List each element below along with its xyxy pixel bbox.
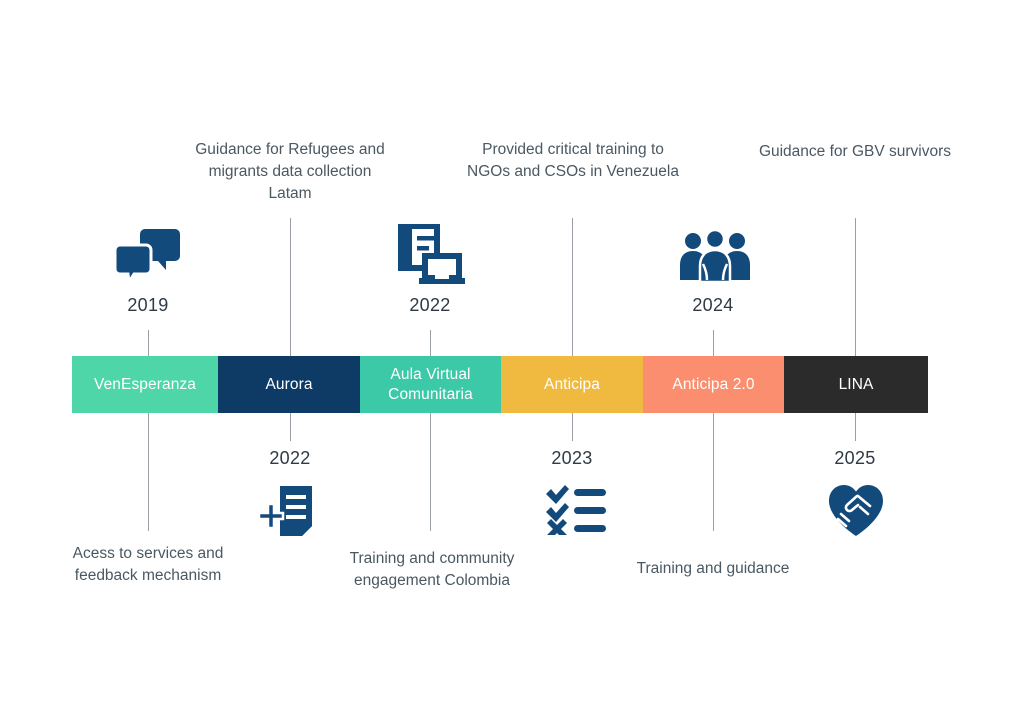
segment-label: Anticipa bbox=[544, 375, 600, 394]
speech-bubbles-icon bbox=[115, 227, 181, 283]
connector-line-bottom-guidance bbox=[713, 413, 714, 531]
caption-critical-training: Provided critical training to NGOs and C… bbox=[440, 139, 706, 183]
caption-line: Training and community bbox=[330, 548, 534, 570]
connector-line-top-anticipa bbox=[572, 218, 573, 356]
year-label-2022-top: 2022 bbox=[370, 295, 490, 316]
connector-line-top-aurora bbox=[290, 218, 291, 356]
icon-slot-2022-top bbox=[392, 222, 472, 288]
segment-label: Aurora bbox=[265, 375, 312, 394]
year-label-2019: 2019 bbox=[88, 295, 208, 316]
year-label-2023: 2023 bbox=[512, 448, 632, 469]
caption-line: Guidance for GBV survivors bbox=[730, 141, 980, 163]
connector-stub-bottom-2023 bbox=[572, 413, 573, 441]
segment-label: LINA bbox=[839, 375, 874, 394]
timeline-segment-anticipa[interactable]: Anticipa bbox=[501, 356, 643, 413]
timeline-segment-aurora[interactable]: Aurora bbox=[218, 356, 360, 413]
timeline-segment-lina[interactable]: LINA bbox=[784, 356, 928, 413]
caption-training-guidance: Training and guidance bbox=[613, 558, 813, 580]
segment-label-line1: Aula Virtual bbox=[390, 365, 470, 384]
year-label-2025: 2025 bbox=[795, 448, 915, 469]
caption-line: migrants data collection bbox=[160, 161, 420, 183]
connector-stub-bottom-2022 bbox=[290, 413, 291, 441]
caption-access-services: Acess to services and feedback mechanism bbox=[48, 543, 248, 587]
caption-line: engagement Colombia bbox=[330, 570, 534, 592]
caption-training-community: Training and community engagement Colomb… bbox=[330, 548, 534, 592]
connector-line-bottom-training bbox=[430, 413, 431, 531]
caption-guidance-refugees: Guidance for Refugees and migrants data … bbox=[160, 139, 420, 205]
connector-line-top-lina bbox=[855, 218, 856, 356]
caption-line: feedback mechanism bbox=[48, 565, 248, 587]
people-group-icon bbox=[679, 230, 751, 282]
checklist-icon bbox=[544, 485, 608, 535]
timeline-segment-venesperanza[interactable]: VenEsperanza bbox=[72, 356, 218, 413]
year-label-2024: 2024 bbox=[653, 295, 773, 316]
add-document-icon bbox=[258, 484, 322, 536]
caption-gbv-survivors: Guidance for GBV survivors bbox=[730, 141, 980, 163]
connector-stub-top-2019 bbox=[148, 330, 149, 356]
caption-line: Latam bbox=[160, 183, 420, 205]
caption-line: NGOs and CSOs in Venezuela bbox=[440, 161, 706, 183]
year-label-2022-bottom: 2022 bbox=[230, 448, 350, 469]
timeline-segment-anticipa-20[interactable]: Anticipa 2.0 bbox=[643, 356, 784, 413]
caption-line: Guidance for Refugees and bbox=[160, 139, 420, 161]
document-laptop-icon bbox=[397, 224, 467, 286]
caption-line: Acess to services and bbox=[48, 543, 248, 565]
caption-line: Provided critical training to bbox=[440, 139, 706, 161]
icon-slot-2019 bbox=[108, 222, 188, 288]
icon-slot-2023 bbox=[538, 482, 614, 538]
segment-label-line2: Comunitaria bbox=[388, 385, 473, 404]
segment-label: VenEsperanza bbox=[94, 375, 196, 394]
connector-line-bottom-access bbox=[148, 413, 149, 531]
connector-stub-top-2022 bbox=[430, 330, 431, 356]
timeline-infographic: Guidance for Refugees and migrants data … bbox=[0, 0, 1024, 724]
icon-slot-2022-bottom bbox=[252, 482, 328, 538]
connector-stub-bottom-2025 bbox=[855, 413, 856, 441]
segment-label: Anticipa 2.0 bbox=[672, 375, 754, 394]
timeline-segment-aula-virtual-comunitaria[interactable]: Aula Virtual Comunitaria bbox=[360, 356, 501, 413]
icon-slot-2024 bbox=[675, 224, 755, 288]
heart-handshake-icon bbox=[827, 483, 885, 537]
icon-slot-2025 bbox=[818, 482, 894, 538]
caption-line: Training and guidance bbox=[613, 558, 813, 580]
timeline-bar: VenEsperanza Aurora Aula Virtual Comunit… bbox=[72, 356, 928, 413]
connector-stub-top-2024 bbox=[713, 330, 714, 356]
